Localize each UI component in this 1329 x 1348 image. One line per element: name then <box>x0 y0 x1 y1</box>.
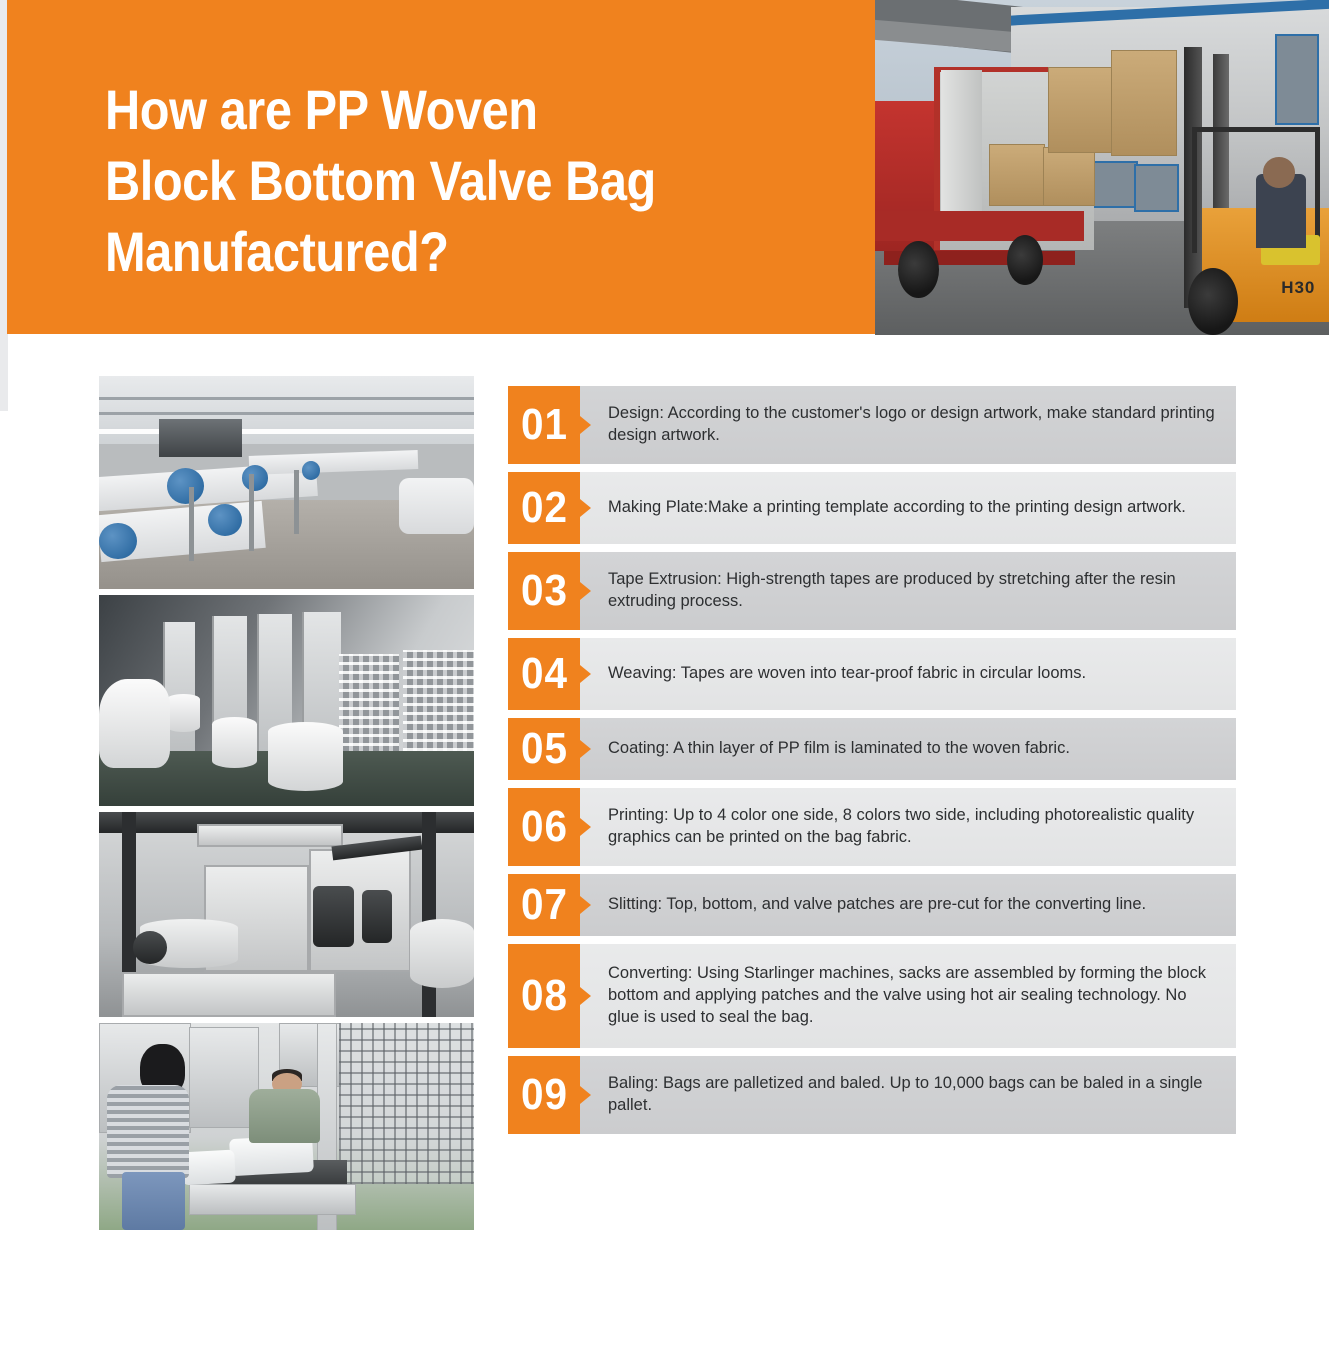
truck-wheel <box>1007 235 1043 285</box>
carton-pallet <box>1048 67 1114 153</box>
worker-jeans <box>122 1172 186 1230</box>
step-number-badge: 03 <box>508 552 580 630</box>
wall-window <box>1275 34 1320 125</box>
process-photo-column <box>99 376 474 1236</box>
circular-looms-photo <box>99 595 474 806</box>
step-description: Slitting: Top, bottom, and valve patches… <box>580 874 1236 936</box>
print-cylinder <box>362 890 392 943</box>
step-row: 09 Baling: Bags are palletized and baled… <box>508 1056 1236 1134</box>
frame-post <box>249 474 254 551</box>
page-title: How are PP Woven Block Bottom Valve Bag … <box>105 74 731 287</box>
forklift-wheel <box>1188 268 1238 335</box>
step-row: 07 Slitting: Top, bottom, and valve patc… <box>508 874 1236 936</box>
step-description: Design: According to the customer's logo… <box>580 386 1236 464</box>
step-number: 04 <box>521 652 568 696</box>
step-description: Coating: A thin layer of PP film is lami… <box>580 718 1236 780</box>
step-description: Printing: Up to 4 color one side, 8 colo… <box>580 788 1236 866</box>
header-banner: How are PP Woven Block Bottom Valve Bag … <box>7 0 876 334</box>
arrow-right-icon <box>580 499 591 517</box>
wall-window <box>1093 161 1138 209</box>
step-description: Converting: Using Starlinger machines, s… <box>580 944 1236 1048</box>
step-number-badge: 04 <box>508 638 580 710</box>
blue-roller <box>208 504 242 536</box>
step-number: 09 <box>521 1073 568 1117</box>
step-number: 05 <box>521 727 568 771</box>
worker-shirt <box>107 1085 190 1178</box>
print-cylinder <box>313 886 354 948</box>
step-row: 08 Converting: Using Starlinger machines… <box>508 944 1236 1048</box>
step-number-badge: 07 <box>508 874 580 936</box>
step-number-badge: 01 <box>508 386 580 464</box>
process-step-list: 01 Design: According to the customer's l… <box>508 386 1236 1142</box>
step-row: 04 Weaving: Tapes are woven into tear-pr… <box>508 638 1236 710</box>
arrow-right-icon <box>580 582 591 600</box>
truck-bed <box>875 211 1084 241</box>
press-gantry <box>197 824 344 846</box>
roll-core <box>133 931 167 964</box>
step-row: 03 Tape Extrusion: High-strength tapes a… <box>508 552 1236 630</box>
step-description: Tape Extrusion: High-strength tapes are … <box>580 552 1236 630</box>
carton-pallet <box>1111 50 1177 156</box>
bobbin-creel <box>403 650 474 760</box>
loading-truck-forklift-photo: H30 <box>875 0 1329 335</box>
arrow-right-icon <box>580 818 591 836</box>
frame-post <box>189 487 194 562</box>
fabric-roll <box>268 722 343 792</box>
conveyor-base <box>189 1184 356 1215</box>
extruder-machine <box>159 419 242 457</box>
blue-roller <box>242 465 268 491</box>
frame-post <box>294 470 299 534</box>
worker-shirt <box>249 1089 320 1143</box>
step-number-badge: 08 <box>508 944 580 1048</box>
fabric-roll <box>410 919 474 989</box>
carton-pallet <box>989 144 1045 206</box>
fabric-roll <box>99 679 170 768</box>
step-row: 06 Printing: Up to 4 color one side, 8 c… <box>508 788 1236 866</box>
wall-window <box>1134 164 1179 212</box>
step-number-badge: 05 <box>508 718 580 780</box>
safety-cage <box>339 1023 474 1184</box>
step-number: 06 <box>521 805 568 849</box>
arrow-right-icon <box>580 896 591 914</box>
step-number-badge: 06 <box>508 788 580 866</box>
step-description: Baling: Bags are palletized and baled. U… <box>580 1056 1236 1134</box>
fabric-roll <box>212 717 257 768</box>
step-description: Making Plate:Make a printing template ac… <box>580 472 1236 544</box>
blue-roller <box>99 523 137 559</box>
printing-press-photo <box>99 812 474 1017</box>
tape-extrusion-line-photo <box>99 376 474 589</box>
operator-head <box>1263 157 1295 187</box>
truck-wheel <box>898 241 939 298</box>
fabric-web <box>249 450 418 475</box>
blue-roller <box>167 468 205 504</box>
press-base <box>122 972 336 1017</box>
blue-roller <box>302 461 321 480</box>
step-number-badge: 02 <box>508 472 580 544</box>
ceiling-beam <box>99 397 474 400</box>
step-number-badge: 09 <box>508 1056 580 1134</box>
converting-workers-photo <box>99 1023 474 1230</box>
step-row: 01 Design: According to the customer's l… <box>508 386 1236 464</box>
step-number: 01 <box>521 403 568 447</box>
bobbin-creel <box>339 654 399 755</box>
arrow-right-icon <box>580 987 591 1005</box>
step-row: 05 Coating: A thin layer of PP film is l… <box>508 718 1236 780</box>
arrow-right-icon <box>580 1086 591 1104</box>
forklift-model-badge: H30 <box>1281 278 1315 298</box>
main-content: 01 Design: According to the customer's l… <box>0 334 1329 1348</box>
fabric-rolls <box>399 478 474 533</box>
step-number: 08 <box>521 974 568 1018</box>
arrow-right-icon <box>580 740 591 758</box>
ceiling-light <box>99 429 474 434</box>
arrow-right-icon <box>580 416 591 434</box>
carton-pallet <box>1043 147 1095 206</box>
step-number: 02 <box>521 486 568 530</box>
ceiling-beam <box>99 412 474 415</box>
arrow-right-icon <box>580 665 591 683</box>
step-number: 03 <box>521 569 568 613</box>
fabric-roll <box>167 694 201 732</box>
step-number: 07 <box>521 883 568 927</box>
step-row: 02 Making Plate:Make a printing template… <box>508 472 1236 544</box>
step-description: Weaving: Tapes are woven into tear-proof… <box>580 638 1236 710</box>
